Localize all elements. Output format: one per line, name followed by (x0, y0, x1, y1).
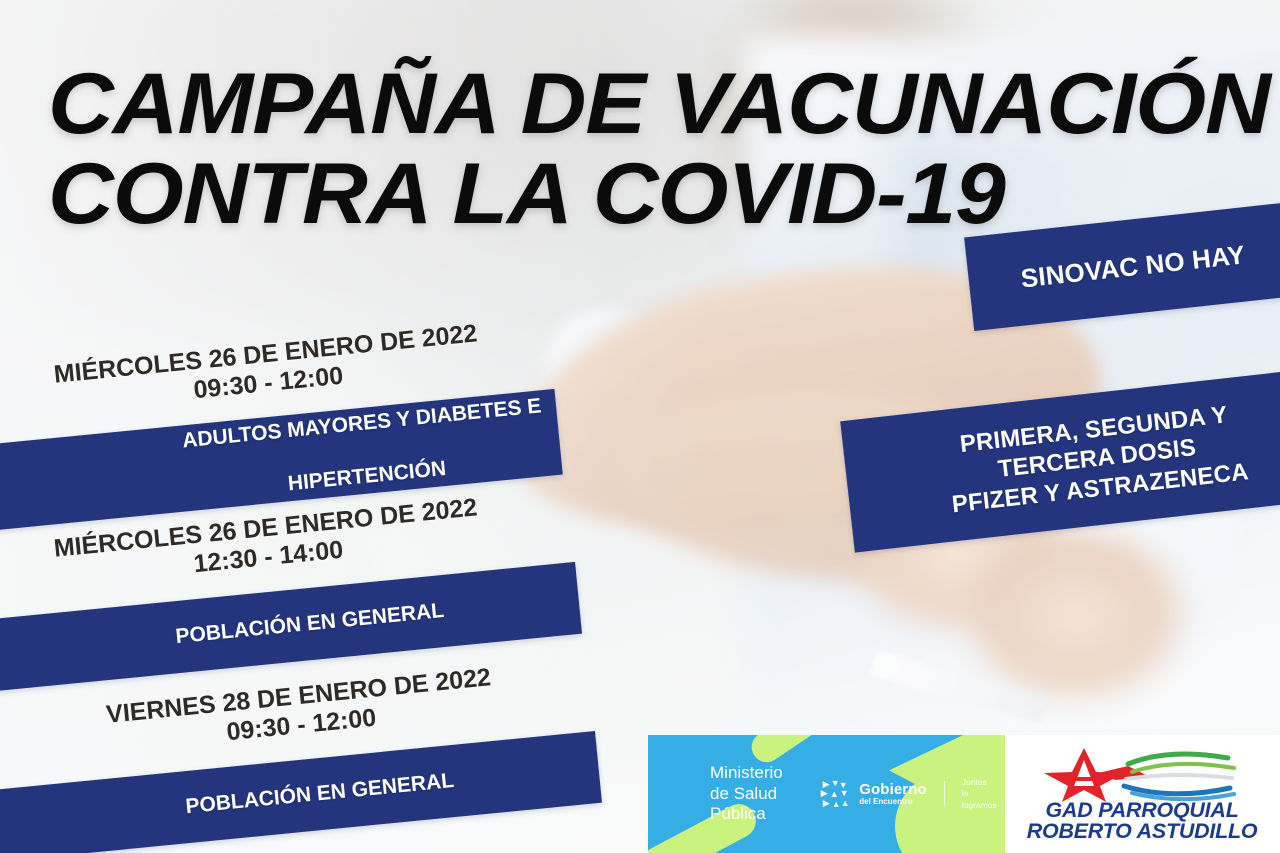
gad-name-line-1: GAD PARROQUIAL (1027, 800, 1258, 821)
government-tagline: Juntos lo logramos (962, 777, 1005, 810)
gad-name: GAD PARROQUIAL ROBERTO ASTUDILLO (1029, 800, 1255, 843)
government-tagline-line-1: Juntos (962, 777, 987, 787)
page-title: CAMPAÑA DE VACUNACIÓN CONTRA LA COVID-19 (48, 65, 1138, 235)
ministry-name-line-1: Ministerio (710, 763, 783, 782)
government-brand-divider (944, 781, 945, 807)
gad-name-line-2: ROBERTO ASTUDILLO (1027, 821, 1258, 842)
ministry-of-health-logo: Ministerio de Salud Pública ▶ ▼ ▼ ▶ ▲ ▼ … (648, 735, 1005, 853)
government-brand-name: Gobierno (859, 782, 926, 797)
page-title-line-1: CAMPAÑA DE VACUNACIÓN (48, 65, 1203, 145)
ministry-name-line-3: Pública (710, 804, 766, 823)
gad-parroquial-logo: GAD PARROQUIAL ROBERTO ASTUDILLO (1005, 735, 1280, 853)
government-tagline-line-2: lo logramos (962, 788, 997, 809)
ministry-name: Ministerio de Salud Pública (710, 763, 783, 825)
vaccination-campaign-poster: CAMPAÑA DE VACUNACIÓN CONTRA LA COVID-19… (0, 0, 1280, 853)
ministry-name-line-2: de Salud (710, 784, 777, 803)
gad-emblem (1028, 746, 1258, 802)
logo-band: Ministerio de Salud Pública ▶ ▼ ▼ ▶ ▲ ▼ … (648, 735, 1280, 853)
page-title-line-2: CONTRA LA COVID-19 (48, 155, 1203, 235)
government-brand-text: Gobierno del Encuentro (859, 782, 926, 806)
government-arrows-icon: ▶ ▼ ▼ ▶ ▲ ▼ ▶ ▲ ▲ (821, 779, 851, 809)
wave-ribbons-icon (1124, 754, 1234, 799)
government-brand: ▶ ▼ ▼ ▶ ▲ ▼ ▶ ▲ ▲ Gobierno del Encuentro (821, 777, 1005, 810)
notice-sinovac-label: SINOVAC NO HAY (1019, 239, 1246, 294)
ministry-logo-content: Ministerio de Salud Pública ▶ ▼ ▼ ▶ ▲ ▼ … (648, 763, 1005, 825)
government-brand-subtitle: del Encuentro (859, 798, 926, 806)
notice-doses-label: PRIMERA, SEGUNDA Y TERCERA DOSIS PFIZER … (944, 399, 1250, 519)
